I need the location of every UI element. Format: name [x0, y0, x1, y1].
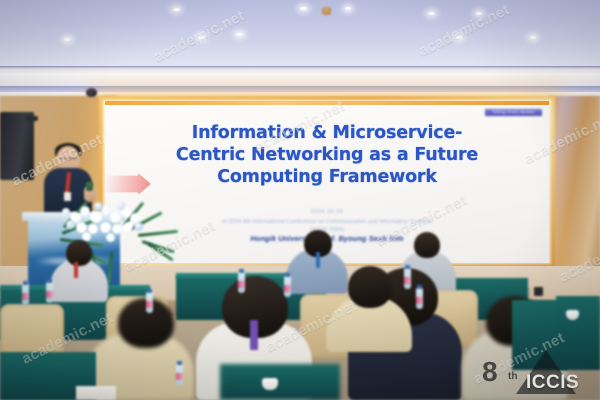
audience-head	[414, 232, 440, 258]
water-bottle-icon	[404, 268, 411, 289]
water-bottle-icon	[238, 272, 245, 293]
bouquet-flower	[62, 208, 70, 216]
pa-speaker-mount	[26, 116, 38, 121]
bouquet-flower	[112, 224, 122, 234]
audience-head	[348, 266, 392, 308]
presentation-clicker-icon	[86, 182, 93, 191]
ceiling-cove-1	[0, 66, 600, 73]
downlight-8	[456, 36, 462, 39]
bottle-cap	[147, 289, 152, 293]
bottle-label	[146, 301, 153, 308]
slide-conference-line-1: of 2024 8th International Conference on …	[105, 218, 549, 226]
bottle-label	[284, 285, 291, 292]
bottle-cap	[239, 269, 244, 273]
slide-title-line-1: Information & Microservice-	[105, 122, 549, 144]
wall-socket-icon	[534, 287, 543, 296]
downlight-10	[530, 36, 536, 39]
water-bottle-icon	[176, 364, 183, 385]
table-skirt	[220, 364, 340, 400]
paper-sheet	[76, 386, 116, 400]
downlight-7	[428, 12, 435, 15]
slide-title-line-2: Centric Networking as a Future	[105, 144, 549, 166]
sprinkler-icon	[322, 7, 331, 15]
slide-title-line-3: Computing Framework	[105, 166, 549, 188]
water-bottle-icon	[146, 292, 153, 313]
bouquet-flower	[100, 222, 111, 233]
bouquet-flower	[66, 220, 75, 229]
bouquet-flower	[80, 206, 90, 216]
bottle-label	[22, 293, 29, 300]
bottle-label	[176, 373, 183, 380]
ceiling-cove-2	[0, 73, 600, 86]
water-bottle-icon	[22, 284, 29, 305]
bottle-cap	[177, 361, 182, 365]
bottle-cap	[405, 265, 410, 269]
audience-lanyard	[316, 252, 320, 268]
downlight-3	[198, 36, 204, 39]
stacked-chairs	[556, 296, 600, 370]
downlight-1	[64, 38, 71, 41]
security-camera-icon	[86, 88, 97, 97]
bottle-label	[238, 281, 245, 288]
slide-speaker-badge: Talking Oracle Speaker	[485, 109, 542, 116]
water-bottle-icon	[46, 282, 53, 303]
slide-date: 2024-10-19	[105, 209, 549, 215]
bottle-label	[404, 277, 411, 284]
bottle-cap	[285, 273, 290, 277]
coffee-cup-icon	[262, 378, 278, 390]
bouquet-flower	[123, 222, 133, 232]
bouquet-flower	[90, 211, 102, 223]
bouquet-flower	[94, 202, 103, 211]
bouquet-flower	[82, 232, 91, 241]
bottle-label	[46, 291, 53, 298]
water-bottle-icon	[416, 288, 423, 309]
slide-title: Information & Microservice- Centric Netw…	[105, 122, 549, 188]
downlight-6	[345, 7, 351, 10]
pa-speaker-box	[0, 112, 34, 180]
bottle-cap	[23, 281, 28, 285]
bouquet-flower	[117, 202, 125, 210]
audience-head	[66, 240, 92, 266]
bottle-cap	[47, 279, 52, 283]
water-bottle-icon	[284, 276, 291, 297]
bottle-cap	[417, 285, 422, 289]
audience-lanyard	[74, 262, 78, 278]
bouquet-flower	[110, 212, 121, 223]
downlight-9	[476, 12, 482, 15]
bouquet-flower	[106, 233, 115, 242]
downlight-4	[236, 33, 243, 36]
conference-photo: Talking Oracle Speaker Information & Mic…	[0, 0, 600, 400]
downlight-5	[300, 7, 307, 10]
downlight-2	[173, 8, 180, 11]
bouquet-flower	[134, 222, 143, 231]
bottle-label	[416, 297, 423, 304]
presenter-glasses-icon	[59, 158, 77, 163]
screen-top-edge	[105, 101, 549, 105]
audience-lanyard	[250, 320, 258, 350]
